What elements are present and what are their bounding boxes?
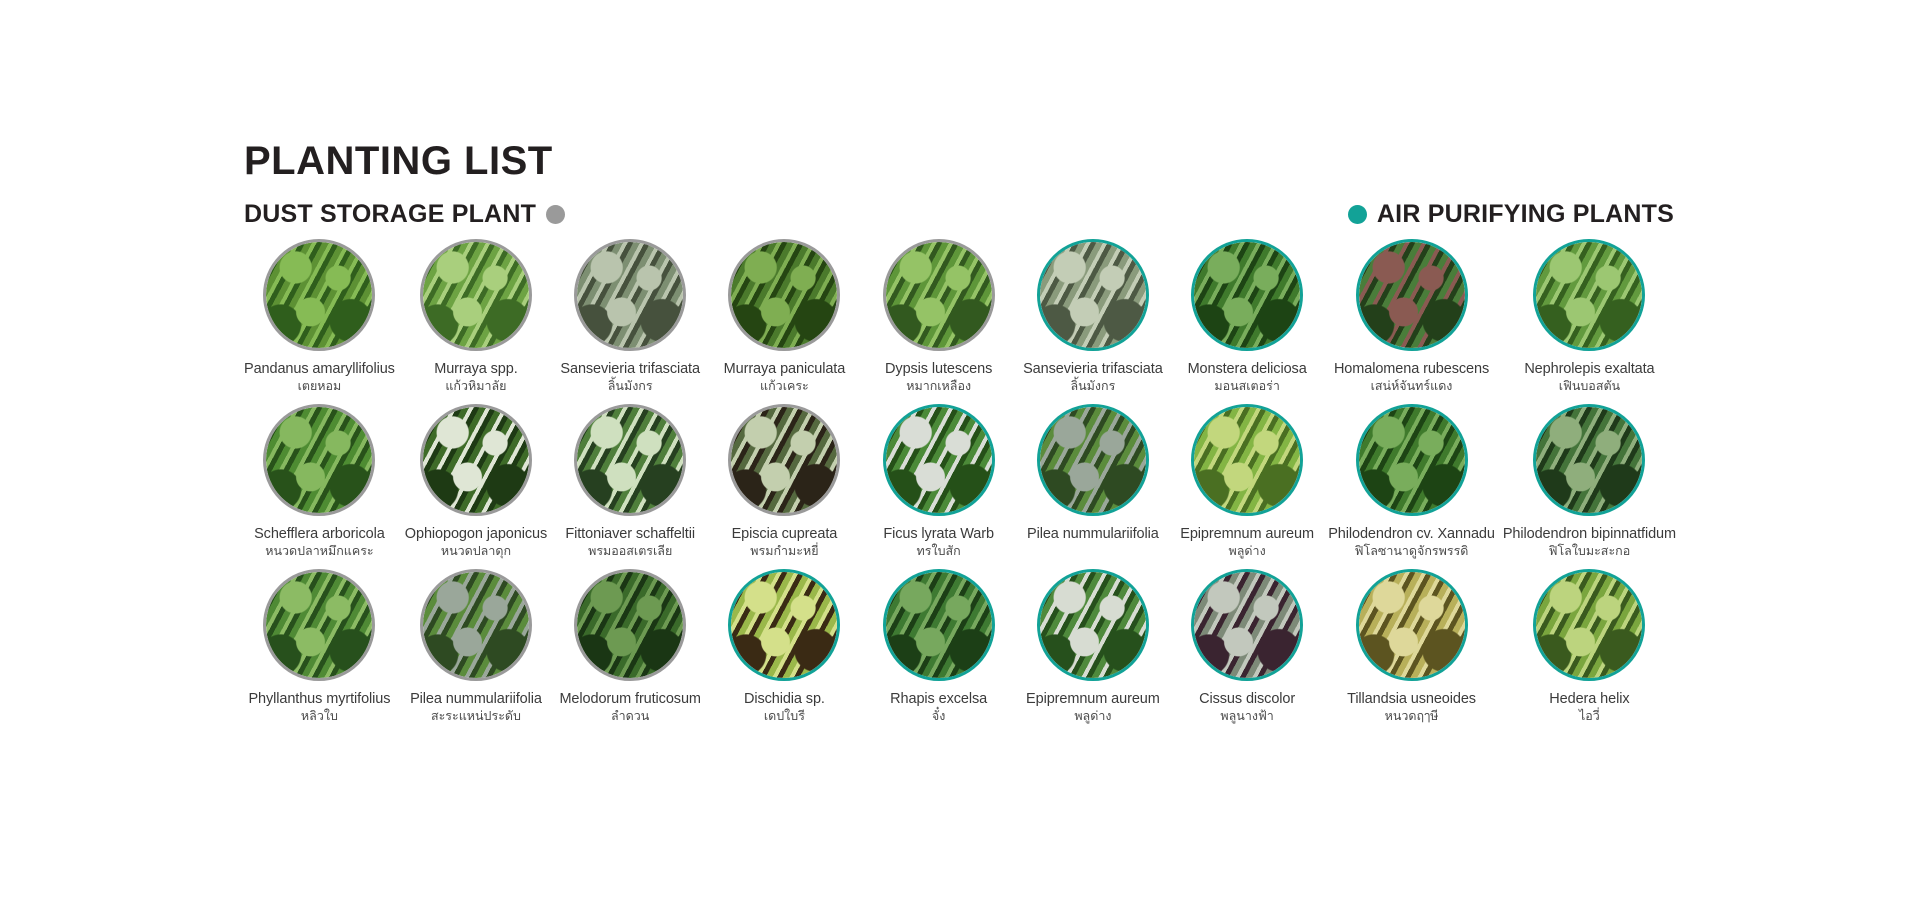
plant-thai-name: ทรใบสัก xyxy=(883,544,994,559)
plant-thai-name: เดปใบรี xyxy=(744,709,825,724)
plant-names: Hedera helixไอวี่ xyxy=(1549,691,1629,724)
plant-thai-name: สะระแหน่ประดับ xyxy=(410,709,542,724)
plant-photo xyxy=(1536,242,1642,348)
plant-cell[interactable]: Sansevieria trifasciataลิ้นมังกร xyxy=(1016,239,1170,394)
plant-cell[interactable]: Schefflera arboricolaหนวดปลาหมึกแคระ xyxy=(240,404,399,559)
plant-cell[interactable]: Homalomena rubescensเสน่ห์จันทร์แดง xyxy=(1324,239,1499,394)
plant-thumbnail[interactable] xyxy=(1191,569,1303,681)
plant-thumbnail[interactable] xyxy=(1037,569,1149,681)
air-purifying-legend-dot xyxy=(1348,205,1367,224)
plant-photo xyxy=(1040,242,1146,348)
plant-thumbnail[interactable] xyxy=(728,569,840,681)
plant-names: Pilea nummulariifolia xyxy=(1027,526,1159,558)
plant-thumbnail[interactable] xyxy=(574,569,686,681)
plant-scientific-name: Pilea nummulariifolia xyxy=(1027,526,1159,543)
plant-thumbnail[interactable] xyxy=(420,239,532,351)
planting-list-page: PLANTING LIST DUST STORAGE PLANT AIR PUR… xyxy=(0,0,1920,900)
plant-photo xyxy=(1359,572,1465,678)
plant-thai-name: เตยหอม xyxy=(244,379,395,394)
plant-cell[interactable]: Ophiopogon japonicusหนวดปลาดุก xyxy=(399,404,553,559)
legend-dust-storage: DUST STORAGE PLANT xyxy=(244,200,565,229)
plant-photo xyxy=(577,242,683,348)
plant-scientific-name: Epipremnum aureum xyxy=(1026,691,1160,708)
plant-photo xyxy=(423,407,529,513)
plant-thai-name: หมากเหลือง xyxy=(885,379,992,394)
plant-photo xyxy=(1194,572,1300,678)
plant-cell[interactable]: Nephrolepis exaltataเฟินบอสตัน xyxy=(1499,239,1680,394)
plant-scientific-name: Murraya spp. xyxy=(434,361,517,378)
plant-thumbnail[interactable] xyxy=(1191,404,1303,516)
plant-photo xyxy=(731,242,837,348)
plant-scientific-name: Dischidia sp. xyxy=(744,691,825,708)
plant-thumbnail[interactable] xyxy=(1356,404,1468,516)
plant-scientific-name: Pilea nummulariifolia xyxy=(410,691,542,708)
plant-names: Sansevieria trifasciataลิ้นมังกร xyxy=(1023,361,1163,394)
plant-scientific-name: Pandanus amaryllifolius xyxy=(244,361,395,378)
plant-thumbnail[interactable] xyxy=(1037,239,1149,351)
plant-cell[interactable]: Cissus discolorพลูนางฟ้า xyxy=(1170,569,1324,724)
plant-thai-name: เฟินบอสตัน xyxy=(1524,379,1654,394)
plant-thumbnail[interactable] xyxy=(574,239,686,351)
plant-scientific-name: Dypsis lutescens xyxy=(885,361,992,378)
plant-thumbnail[interactable] xyxy=(263,239,375,351)
plant-cell[interactable]: Murraya paniculataแก้วเคระ xyxy=(707,239,861,394)
plant-cell[interactable]: Pilea nummulariifolia xyxy=(1016,404,1170,559)
plant-photo xyxy=(1040,572,1146,678)
plant-cell[interactable]: Philodendron cv. Xannaduฟิโลซานาดูจักรพร… xyxy=(1324,404,1499,559)
plant-thai-name: จั๋ง xyxy=(890,709,987,724)
plant-names: Cissus discolorพลูนางฟ้า xyxy=(1199,691,1295,724)
plant-names: Tillandsia usneoidesหนวดฤๅษี xyxy=(1347,691,1476,724)
plant-scientific-name: Ficus lyrata Warb xyxy=(883,526,994,543)
plant-cell[interactable]: Dischidia sp.เดปใบรี xyxy=(707,569,861,724)
plant-names: Epipremnum aureumพลูด่าง xyxy=(1026,691,1160,724)
plant-thumbnail[interactable] xyxy=(574,404,686,516)
plant-thumbnail[interactable] xyxy=(263,404,375,516)
plant-thumbnail[interactable] xyxy=(883,569,995,681)
plant-thai-name: ไอวี่ xyxy=(1549,709,1629,724)
plant-scientific-name: Rhapis excelsa xyxy=(890,691,987,708)
plant-cell[interactable]: Fittoniaver schaffeltiiพรมออสเตรเลีย xyxy=(553,404,707,559)
plant-names: Dypsis lutescensหมากเหลือง xyxy=(885,361,992,394)
plant-scientific-name: Monstera deliciosa xyxy=(1188,361,1307,378)
plant-thai-name: หนวดปลาดุก xyxy=(405,544,547,559)
legend-air-purifying-label: AIR PURIFYING PLANTS xyxy=(1377,200,1674,229)
plant-names: Schefflera arboricolaหนวดปลาหมึกแคระ xyxy=(254,526,385,559)
plant-thai-name: ฟิโลซานาดูจักรพรรดิ xyxy=(1328,544,1495,559)
plant-thumbnail[interactable] xyxy=(420,404,532,516)
legend-row: DUST STORAGE PLANT AIR PURIFYING PLANTS xyxy=(244,200,1674,229)
dust-storage-legend-dot xyxy=(546,205,565,224)
plant-cell[interactable]: Hedera helixไอวี่ xyxy=(1499,569,1680,724)
plant-thai-name: ลำดวน xyxy=(559,709,700,724)
plant-cell[interactable]: Episcia cupreataพรมกำมะหยี่ xyxy=(707,404,861,559)
plant-names: Dischidia sp.เดปใบรี xyxy=(744,691,825,724)
plant-thai-name: ลิ้นมังกร xyxy=(1023,379,1163,394)
plant-thai-name: พลูด่าง xyxy=(1180,544,1314,559)
plant-photo xyxy=(577,572,683,678)
plant-photo xyxy=(886,242,992,348)
plant-cell[interactable]: Ficus lyrata Warbทรใบสัก xyxy=(862,404,1016,559)
plant-photo xyxy=(886,572,992,678)
plant-thai-name: ลิ้นมังกร xyxy=(560,379,700,394)
plant-thumbnail[interactable] xyxy=(1533,239,1645,351)
plant-thumbnail[interactable] xyxy=(1533,569,1645,681)
plant-cell[interactable]: Sansevieria trifasciataลิ้นมังกร xyxy=(553,239,707,394)
plant-photo xyxy=(1359,242,1465,348)
plant-photo xyxy=(266,572,372,678)
plant-cell[interactable]: Monstera deliciosaมอนสเตอร่า xyxy=(1170,239,1324,394)
plant-photo xyxy=(886,407,992,513)
plant-names: Fittoniaver schaffeltiiพรมออสเตรเลีย xyxy=(565,526,695,559)
plant-cell[interactable]: Phyllanthus myrtifoliusหลิวใบ xyxy=(240,569,399,724)
plant-names: Ficus lyrata Warbทรใบสัก xyxy=(883,526,994,559)
plant-grid: Pandanus amaryllifoliusเตยหอมMurraya spp… xyxy=(240,239,1680,724)
plant-thai-name: หลิวใบ xyxy=(248,709,390,724)
plant-cell[interactable]: Murraya spp.แก้วหิมาลัย xyxy=(399,239,553,394)
plant-thumbnail[interactable] xyxy=(263,569,375,681)
plant-scientific-name: Ophiopogon japonicus xyxy=(405,526,547,543)
plant-scientific-name: Hedera helix xyxy=(1549,691,1629,708)
plant-photo xyxy=(731,407,837,513)
plant-thai-name: หนวดปลาหมึกแคระ xyxy=(254,544,385,559)
plant-scientific-name: Philodendron cv. Xannadu xyxy=(1328,526,1495,543)
content-container: PLANTING LIST DUST STORAGE PLANT AIR PUR… xyxy=(240,140,1680,724)
plant-thai-name: แก้วเคระ xyxy=(724,379,846,394)
plant-scientific-name: Cissus discolor xyxy=(1199,691,1295,708)
plant-thai-name: พรมกำมะหยี่ xyxy=(732,544,838,559)
plant-scientific-name: Sansevieria trifasciata xyxy=(1023,361,1163,378)
plant-photo xyxy=(1536,572,1642,678)
plant-photo xyxy=(1040,407,1146,513)
plant-cell[interactable]: Pilea nummulariifoliaสะระแหน่ประดับ xyxy=(399,569,553,724)
plant-names: Murraya paniculataแก้วเคระ xyxy=(724,361,846,394)
plant-photo xyxy=(1194,242,1300,348)
plant-scientific-name: Melodorum fruticosum xyxy=(559,691,700,708)
plant-names: Homalomena rubescensเสน่ห์จันทร์แดง xyxy=(1334,361,1489,394)
plant-names: Melodorum fruticosumลำดวน xyxy=(559,691,700,724)
plant-names: Rhapis excelsaจั๋ง xyxy=(890,691,987,724)
plant-cell[interactable]: Tillandsia usneoidesหนวดฤๅษี xyxy=(1324,569,1499,724)
plant-scientific-name: Episcia cupreata xyxy=(732,526,838,543)
legend-air-purifying: AIR PURIFYING PLANTS xyxy=(1348,200,1674,229)
plant-thai-name: หนวดฤๅษี xyxy=(1347,709,1476,724)
plant-scientific-name: Philodendron bipinnatfidum xyxy=(1503,526,1676,543)
plant-thai-name: พลูนางฟ้า xyxy=(1199,709,1295,724)
plant-cell[interactable]: Melodorum fruticosumลำดวน xyxy=(553,569,707,724)
page-title: PLANTING LIST xyxy=(244,140,1680,182)
plant-thai-name: ฟิโลใบมะสะกอ xyxy=(1503,544,1676,559)
plant-thai-name: พลูด่าง xyxy=(1026,709,1160,724)
plant-photo xyxy=(1359,407,1465,513)
plant-scientific-name: Homalomena rubescens xyxy=(1334,361,1489,378)
plant-photo xyxy=(423,572,529,678)
legend-dust-storage-label: DUST STORAGE PLANT xyxy=(244,200,536,229)
plant-names: Pandanus amaryllifoliusเตยหอม xyxy=(244,361,395,394)
plant-thumbnail[interactable] xyxy=(1037,404,1149,516)
plant-thumbnail[interactable] xyxy=(1191,239,1303,351)
plant-scientific-name: Sansevieria trifasciata xyxy=(560,361,700,378)
plant-names: Episcia cupreataพรมกำมะหยี่ xyxy=(732,526,838,559)
plant-cell[interactable]: Pandanus amaryllifoliusเตยหอม xyxy=(240,239,399,394)
plant-thai-name: เสน่ห์จันทร์แดง xyxy=(1334,379,1489,394)
plant-thumbnail[interactable] xyxy=(420,569,532,681)
plant-names: Philodendron cv. Xannaduฟิโลซานาดูจักรพร… xyxy=(1328,526,1495,559)
plant-thumbnail[interactable] xyxy=(883,239,995,351)
plant-scientific-name: Phyllanthus myrtifolius xyxy=(248,691,390,708)
plant-cell[interactable]: Rhapis excelsaจั๋ง xyxy=(862,569,1016,724)
plant-names: Sansevieria trifasciataลิ้นมังกร xyxy=(560,361,700,394)
plant-cell[interactable]: Epipremnum aureumพลูด่าง xyxy=(1170,404,1324,559)
plant-scientific-name: Fittoniaver schaffeltii xyxy=(565,526,695,543)
plant-scientific-name: Tillandsia usneoides xyxy=(1347,691,1476,708)
plant-names: Philodendron bipinnatfidumฟิโลใบมะสะกอ xyxy=(1503,526,1676,559)
plant-scientific-name: Epipremnum aureum xyxy=(1180,526,1314,543)
plant-names: Epipremnum aureumพลูด่าง xyxy=(1180,526,1314,559)
plant-names: Pilea nummulariifoliaสะระแหน่ประดับ xyxy=(410,691,542,724)
plant-cell[interactable]: Dypsis lutescensหมากเหลือง xyxy=(862,239,1016,394)
plant-thai-name: มอนสเตอร่า xyxy=(1188,379,1307,394)
plant-photo xyxy=(1194,407,1300,513)
plant-thumbnail[interactable] xyxy=(1356,239,1468,351)
plant-scientific-name: Murraya paniculata xyxy=(724,361,846,378)
plant-cell[interactable]: Epipremnum aureumพลูด่าง xyxy=(1016,569,1170,724)
plant-thai-name xyxy=(1027,544,1159,558)
plant-thai-name: พรมออสเตรเลีย xyxy=(565,544,695,559)
plant-scientific-name: Schefflera arboricola xyxy=(254,526,385,543)
plant-photo xyxy=(1536,407,1642,513)
plant-photo xyxy=(266,407,372,513)
plant-thumbnail[interactable] xyxy=(728,404,840,516)
plant-names: Ophiopogon japonicusหนวดปลาดุก xyxy=(405,526,547,559)
plant-scientific-name: Nephrolepis exaltata xyxy=(1524,361,1654,378)
plant-photo xyxy=(577,407,683,513)
plant-thumbnail[interactable] xyxy=(1356,569,1468,681)
plant-thai-name: แก้วหิมาลัย xyxy=(434,379,517,394)
plant-names: Nephrolepis exaltataเฟินบอสตัน xyxy=(1524,361,1654,394)
plant-names: Monstera deliciosaมอนสเตอร่า xyxy=(1188,361,1307,394)
plant-thumbnail[interactable] xyxy=(1533,404,1645,516)
plant-names: Murraya spp.แก้วหิมาลัย xyxy=(434,361,517,394)
plant-photo xyxy=(266,242,372,348)
plant-thumbnail[interactable] xyxy=(728,239,840,351)
plant-thumbnail[interactable] xyxy=(883,404,995,516)
plant-cell[interactable]: Philodendron bipinnatfidumฟิโลใบมะสะกอ xyxy=(1499,404,1680,559)
plant-names: Phyllanthus myrtifoliusหลิวใบ xyxy=(248,691,390,724)
plant-photo xyxy=(731,572,837,678)
plant-photo xyxy=(423,242,529,348)
